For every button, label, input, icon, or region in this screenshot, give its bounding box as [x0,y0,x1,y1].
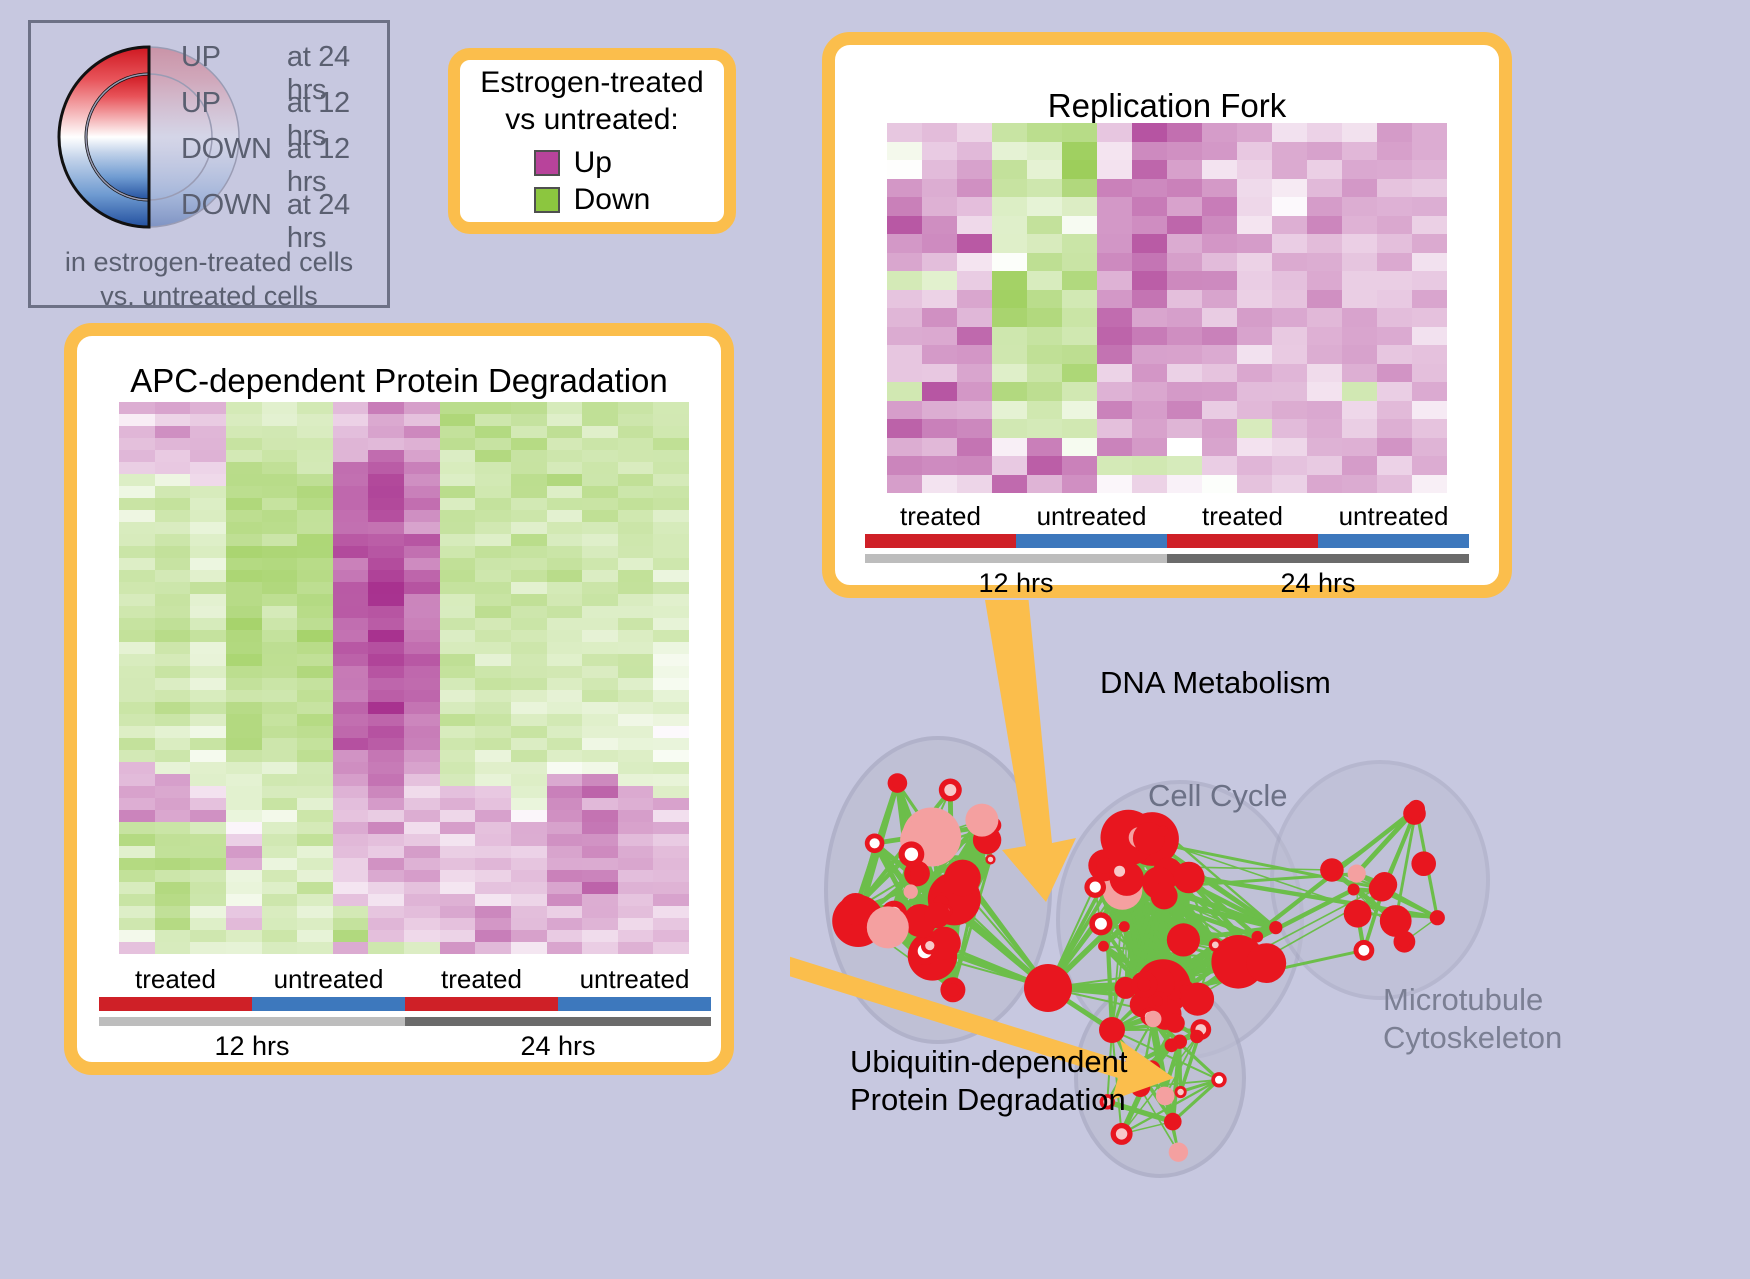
heatmap-cell [404,702,440,714]
heatmap-cell [155,846,191,858]
heatmap-cell [547,678,583,690]
heatmap-cell [297,486,333,498]
heatmap-cell [618,918,654,930]
heatmap-cell [226,402,262,414]
heatmap-cell [1377,438,1412,457]
network-node-core [1212,942,1219,949]
heatmap-cell [1272,216,1307,235]
heatmap-cell [1062,160,1097,179]
heatmap-cell [957,142,992,161]
heatmap-cell [511,930,547,942]
heatmap-cell [1027,475,1062,494]
heatmap-cell [333,654,369,666]
heatmap-cell [368,822,404,834]
heatmap-cell [653,714,689,726]
heatmap-cell [1377,234,1412,253]
heatmap-cell [1132,382,1167,401]
heatmap-cell [297,438,333,450]
heatmap-cell [262,714,298,726]
heatmap-cell [368,510,404,522]
heatmap-cell [262,846,298,858]
heatmap-cell [262,942,298,954]
heatmap-cell [190,906,226,918]
network-node-core [1137,978,1151,992]
heatmap-cell [262,738,298,750]
heatmap-cell [1202,308,1237,327]
heatmap-cell [262,690,298,702]
heatmap-cell [404,774,440,786]
heatmap-cell [1062,179,1097,198]
heatmap-cell [653,594,689,606]
heatmap-cell [155,426,191,438]
heatmap-cell [440,486,476,498]
heatmap-cell [368,798,404,810]
heatmap-cell [992,160,1027,179]
heatmap-cell [368,414,404,426]
heatmap-cell [887,327,922,346]
heatmap-cell [119,834,155,846]
heatmap-cell [368,714,404,726]
heatmap-cell [333,750,369,762]
heatmap-cell [155,618,191,630]
heatmap-cell [440,582,476,594]
heatmap-cell [582,690,618,702]
axis-treatment-segment-treated [99,997,252,1011]
heatmap-cell [1167,438,1202,457]
heatmap-cell [226,414,262,426]
heatmap-cell [119,870,155,882]
heatmap-cell [511,546,547,558]
heatmap-cell [582,594,618,606]
heatmap-cell [1027,160,1062,179]
square-swatch-icon [534,187,560,213]
heatmap-cell [226,678,262,690]
network-node [944,860,981,897]
heatmap-cell [511,402,547,414]
heatmap-cell [922,179,957,198]
heatmap-cell [1412,160,1447,179]
heatmap-cell [297,714,333,726]
heatmap-cell [1132,123,1167,142]
heatmap-cell [511,870,547,882]
heatmap-cell [368,450,404,462]
heatmap-cell [1377,327,1412,346]
heatmap-cell [262,894,298,906]
heatmap-cell [653,582,689,594]
heatmap-cell [1027,253,1062,272]
heatmap-cell [957,419,992,438]
heatmap-cell [475,522,511,534]
heatmap-cell [992,475,1027,494]
heatmap-cell [404,762,440,774]
heatmap-cell [992,197,1027,216]
heatmap-cell [297,546,333,558]
heatmap-cell [262,462,298,474]
heatmap-cell [404,786,440,798]
heatmap-cell [957,308,992,327]
heatmap-cell [404,546,440,558]
heatmap-cell [119,618,155,630]
heatmap-cell [440,474,476,486]
heatmap-cell [1412,475,1447,494]
heatmap-cell [440,858,476,870]
heatmap-cell [618,642,654,654]
heatmap-cell [475,714,511,726]
heatmap-cell [226,450,262,462]
heatmap-cell [368,786,404,798]
heatmap-cell [475,762,511,774]
legend-title-line1: Estrogen-treated [480,64,703,101]
legend-title-line2: vs untreated: [480,101,703,138]
heatmap-cell [1167,364,1202,383]
heatmap-cell [368,474,404,486]
heatmap-cell [887,345,922,364]
heatmap-cell [190,870,226,882]
heatmap-cell [333,774,369,786]
heatmap-cell [887,382,922,401]
heatmap-cell [226,834,262,846]
network-node [1167,923,1200,956]
heatmap-cell [440,810,476,822]
heatmap-cell [618,894,654,906]
heatmap-cell [582,738,618,750]
heatmap-cell [547,510,583,522]
heatmap-cell [333,678,369,690]
heatmap-cell [404,738,440,750]
heatmap-cell [333,618,369,630]
axis-timepoint-labels: 12 hrs 24 hrs [99,1028,711,1064]
heatmap-cell [333,702,369,714]
heatmap-cell [368,834,404,846]
heatmap-cell [404,846,440,858]
heatmap-cell [992,438,1027,457]
heatmap-cell [1307,179,1342,198]
heatmap-cell [297,882,333,894]
heatmap-cell [368,558,404,570]
heatmap-cell [190,930,226,942]
heatmap-cell [618,522,654,534]
heatmap-cell [155,450,191,462]
heatmap-cell [992,290,1027,309]
heatmap-cell [119,426,155,438]
network-node [1181,983,1214,1016]
axis-treatment-segment-untreated [558,997,711,1011]
heatmap-cell [368,618,404,630]
heatmap-cell [653,894,689,906]
heatmap-cell [440,726,476,738]
heatmap-cell [440,894,476,906]
heatmap-cell [475,702,511,714]
colorbar-key-row: DOWN at 24 hrs [181,189,391,235]
heatmap-cell [511,774,547,786]
heatmap-cell [190,762,226,774]
heatmap-cell [404,582,440,594]
heatmap-cell [190,894,226,906]
heatmap-cell [1412,179,1447,198]
heatmap-cell [297,642,333,654]
heatmap-cell [1272,179,1307,198]
heatmap-cell [297,606,333,618]
heatmap-cell [992,123,1027,142]
heatmap-cell [957,401,992,420]
heatmap-cell [404,486,440,498]
heatmap-cell [582,882,618,894]
heatmap-cell [1377,419,1412,438]
heatmap-cell [440,594,476,606]
heatmap-cell [404,450,440,462]
heatmap-cell [368,402,404,414]
heatmap-cell [297,930,333,942]
heatmap-cell [262,786,298,798]
heatmap-cell [155,750,191,762]
heatmap-cell [1062,197,1097,216]
heatmap-cell [368,654,404,666]
network-node [1374,883,1392,901]
heatmap-cell [297,738,333,750]
heatmap-cell [155,486,191,498]
axis-timepoint-colorbar [865,554,1469,563]
heatmap-cell [582,498,618,510]
heatmap-cell [440,822,476,834]
heatmap-cell [1062,253,1097,272]
heatmap-cell [653,702,689,714]
heatmap-cell [297,402,333,414]
heatmap-cell [1132,364,1167,383]
heatmap-cell [226,606,262,618]
heatmap-cell [582,522,618,534]
heatmap-cell [547,498,583,510]
heatmap-cell [653,414,689,426]
heatmap-cell [404,522,440,534]
heatmap-cell [1377,308,1412,327]
heatmap-cell [190,558,226,570]
heatmap-cell [155,594,191,606]
heatmap-cell [440,666,476,678]
network-node [1144,1060,1160,1076]
heatmap-cell [440,438,476,450]
heatmap-cell [190,498,226,510]
heatmap-cell [226,618,262,630]
heatmap-cell [547,894,583,906]
heatmap-cell [155,786,191,798]
heatmap-cell [1412,234,1447,253]
colorbar-key-direction: UP [181,87,287,120]
heatmap-cell [1027,364,1062,383]
heatmap-cell [1412,123,1447,142]
axis-group-label: untreated [558,963,711,995]
heatmap-cell [119,762,155,774]
heatmap-cell [1062,327,1097,346]
heatmap-cell [653,450,689,462]
heatmap-cell [155,498,191,510]
heatmap-cell [511,714,547,726]
heatmap-cell [618,414,654,426]
heatmap-cell [475,654,511,666]
heatmap-cell [653,882,689,894]
heatmap-cell [262,582,298,594]
heatmap-cell [155,918,191,930]
heatmap-cell [440,402,476,414]
heatmap-cell [1202,456,1237,475]
axis-treatment-segment-untreated [1016,534,1167,548]
heatmap-cell [475,738,511,750]
colorbar-key-row: DOWN at 12 hrs [181,133,391,189]
heatmap-cell [333,630,369,642]
heatmap-cell [440,426,476,438]
heatmap-cell [992,308,1027,327]
heatmap-cell [404,666,440,678]
heatmap-cell [653,798,689,810]
heatmap-cell [957,179,992,198]
network-node [1119,921,1130,932]
heatmap-cell [333,510,369,522]
heatmap-cell [653,486,689,498]
heatmap-cell [368,738,404,750]
heatmap-cell [511,798,547,810]
heatmap-cell [957,382,992,401]
heatmap-cell [333,534,369,546]
heatmap-cell [1342,197,1377,216]
heatmap-cell [1027,438,1062,457]
heatmap-cell [119,630,155,642]
heatmap-cell [653,522,689,534]
heatmap-cell [119,942,155,954]
heatmap-cell [1167,160,1202,179]
heatmap-cell [226,786,262,798]
heatmap-cell [368,942,404,954]
heatmap-cell [1202,401,1237,420]
cluster-label-ubiquitin-dependent-protein-degradation: Ubiquitin-dependent Protein Degradation [850,1043,1128,1119]
heatmap-cell [1097,234,1132,253]
heatmap-cell [618,546,654,558]
heatmap-cell [1237,345,1272,364]
heatmap-cell [262,522,298,534]
network-node-core [870,838,880,848]
heatmap-cell [1167,271,1202,290]
heatmap-cell [1062,438,1097,457]
panel-title: Replication Fork [835,87,1499,125]
heatmap-cell [922,308,957,327]
heatmap-cell [1307,271,1342,290]
heatmap-cell [618,558,654,570]
heatmap-cell [226,690,262,702]
heatmap-cell [368,534,404,546]
heatmap-cell [297,870,333,882]
heatmap-cell [547,714,583,726]
heatmap-cell [297,762,333,774]
heatmap-cell [1307,160,1342,179]
heatmap-cell [511,510,547,522]
heatmap-cell [992,419,1027,438]
network-node [1169,1143,1188,1162]
network-node-core [1177,1089,1183,1095]
heatmap-cell [582,726,618,738]
heatmap-cell [582,774,618,786]
heatmap-cell [404,882,440,894]
heatmap-cell [1167,216,1202,235]
heatmap-cell [1377,216,1412,235]
heatmap-cell [226,750,262,762]
network-node [867,906,909,948]
heatmap-cell [618,738,654,750]
heatmap-cell [957,327,992,346]
heatmap-cell [475,774,511,786]
heatmap-cell [333,918,369,930]
colorbar-key-direction: UP [181,41,287,74]
heatmap-cell [1377,290,1412,309]
heatmap-cell [1167,234,1202,253]
heatmap-cell [547,690,583,702]
heatmap-cell [582,666,618,678]
heatmap-cell [404,402,440,414]
heatmap-cell [1307,308,1342,327]
heatmap-cell [404,630,440,642]
heatmap-cell [653,642,689,654]
heatmap-cell [957,438,992,457]
heatmap-cell [1132,253,1167,272]
axis-timepoint-segment-12hrs [865,554,1167,563]
heatmap-cell [155,546,191,558]
heatmap-cell [190,822,226,834]
heatmap-cell [404,870,440,882]
heatmap-cell [333,858,369,870]
heatmap-cell [922,401,957,420]
heatmap-cell [1272,308,1307,327]
heatmap-cell [582,702,618,714]
network-node-core [905,848,918,861]
heatmap-cell [1062,475,1097,494]
heatmap-cell [404,834,440,846]
heatmap-cell [1202,234,1237,253]
heatmap-cell [887,123,922,142]
heatmap-cell [155,702,191,714]
heatmap-cell [1097,345,1132,364]
heatmap-cell [547,930,583,942]
heatmap-cell [582,798,618,810]
heatmap-cell [582,834,618,846]
heatmap-cell [511,582,547,594]
heatmap-cell [1342,419,1377,438]
heatmap-cell [226,942,262,954]
axis-group-label: untreated [252,963,405,995]
heatmap-cell [1307,327,1342,346]
network-node-core [946,983,959,996]
heatmap-cell [119,726,155,738]
heatmap-cell [1307,345,1342,364]
heatmap-cell [404,510,440,522]
heatmap-cell [618,582,654,594]
heatmap-cell [511,618,547,630]
heatmap-cell [653,678,689,690]
heatmap-cell [119,582,155,594]
heatmap-cell [119,714,155,726]
heatmap-cell [262,762,298,774]
heatmap-cell [922,456,957,475]
heatmap-cell [618,570,654,582]
heatmap-cell [1167,327,1202,346]
heatmap-cell [1202,382,1237,401]
heatmap-cell [992,364,1027,383]
heatmap-cell [440,786,476,798]
heatmap-cell [297,474,333,486]
heatmap-cell [226,906,262,918]
heatmap-cell [262,822,298,834]
heatmap-cell [511,810,547,822]
heatmap-cell [922,253,957,272]
network-node-core [1153,996,1163,1006]
network-hub-node [1099,1017,1125,1043]
heatmap-cell [582,762,618,774]
